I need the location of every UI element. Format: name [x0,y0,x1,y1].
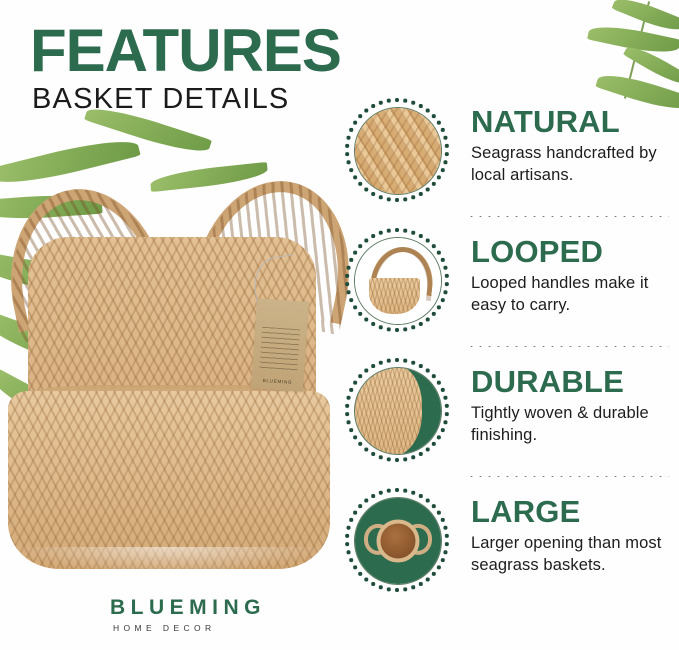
feature-text-block: LARGE Larger opening than most seagrass … [449,488,675,577]
basket-silhouette-shape [354,367,422,455]
feature-item-natural: NATURAL Seagrass handcrafted by local ar… [345,98,675,210]
seagrass-weave-texture [354,367,422,455]
page-title: FEATURES [30,22,341,79]
feature-divider [467,475,669,478]
feature-text-block: DURABLE Tightly woven & durable finishin… [449,358,675,447]
feature-thumb-natural [345,98,449,202]
product-hangtag: BLUEMING [251,298,309,391]
hero-product-image: BLUEMING [0,195,352,595]
feature-description: Larger opening than most seagrass basket… [471,533,675,577]
basket-lower-body [8,391,330,569]
feature-heading: DURABLE [471,366,675,397]
thumb-photo [354,237,442,325]
infographic-canvas: FEATURES BASKET DETAILS BLUEMING [0,0,679,650]
page-subtitle: BASKET DETAILS [32,85,341,114]
mini-basket-shape [369,278,421,314]
thumb-photo-inner [355,108,441,194]
feature-item-durable: DURABLE Tightly woven & durable finishin… [345,358,675,470]
feature-item-looped: LOOPED Looped handles make it easy to ca… [345,228,675,340]
brand-tagline: HOME DECOR [110,624,679,633]
feature-description: Looped handles make it easy to carry. [471,273,675,317]
basket-opening-shape [377,520,420,563]
thumb-photo-inner [355,498,441,584]
thumb-photo-inner [355,368,441,454]
feature-heading: NATURAL [471,106,675,137]
thumb-photo [354,497,442,585]
hangtag-text-lines [259,327,300,374]
feature-thumb-looped [345,228,449,332]
thumb-photo-inner [355,238,441,324]
header-block: FEATURES BASKET DETAILS [30,22,341,114]
leaf-icon [0,132,141,192]
feature-thumb-durable [345,358,449,462]
feature-text-block: NATURAL Seagrass handcrafted by local ar… [449,98,675,187]
feature-description: Seagrass handcrafted by local artisans. [471,143,675,187]
feature-heading: LARGE [471,496,675,527]
feature-item-large: LARGE Larger opening than most seagrass … [345,488,675,600]
feature-description: Tightly woven & durable finishing. [471,403,675,447]
seagrass-weave-texture [354,107,442,195]
hangtag-brand: BLUEMING [251,377,303,386]
feature-thumb-large [345,488,449,592]
feature-list: NATURAL Seagrass handcrafted by local ar… [345,98,675,600]
seagrass-weave-texture [369,278,421,314]
brand-logo: BLUEMING HOME DECOR [0,597,679,633]
feature-divider [467,215,669,218]
feature-text-block: LOOPED Looped handles make it easy to ca… [449,228,675,317]
feature-heading: LOOPED [471,236,675,267]
thumb-photo [354,107,442,195]
feature-divider [467,345,669,348]
thumb-photo [354,367,442,455]
brand-name: BLUEMING [110,597,679,618]
